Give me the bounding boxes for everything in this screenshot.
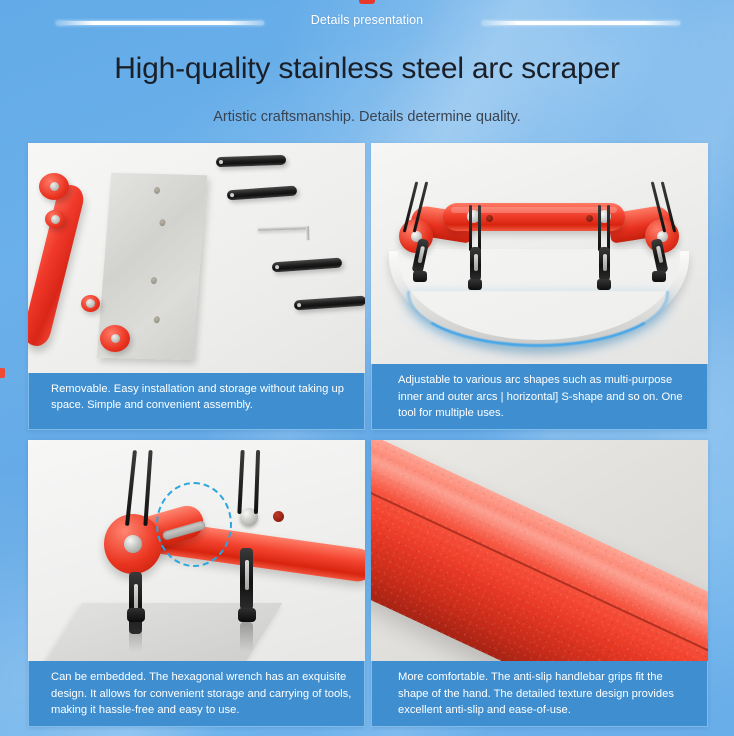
dot-left-icon (486, 215, 493, 222)
foot-inner-right (597, 279, 611, 290)
blade-arm-4 (294, 296, 365, 311)
leg-right-a (237, 450, 244, 514)
page-header: Details presentation High-quality stainl… (0, 0, 734, 140)
handle-pivot-lower-icon (81, 295, 100, 312)
dot-right-icon (586, 215, 593, 222)
leg-right-b (254, 450, 260, 514)
top-accent-tab-icon (359, 0, 375, 4)
accent-dot-icon (273, 511, 284, 522)
card-caption: Can be embedded. The hexagonal wrench ha… (28, 661, 365, 727)
feature-card-grid: Removable. Easy installation and storage… (28, 143, 708, 727)
arc-shapes-photo (371, 143, 708, 364)
blade-arm-1 (216, 155, 286, 167)
hex-wrench-photo (28, 440, 365, 661)
hex-wrench-illustration (258, 226, 308, 231)
clamp-right (240, 548, 253, 610)
foot-inner-left (468, 279, 482, 290)
card-arc-shapes[interactable]: Adjustable to various arc shapes such as… (371, 143, 708, 430)
blade-arm-2 (227, 186, 298, 201)
card-caption: More comfortable. The anti-slip handleba… (371, 661, 708, 727)
leg-inner-right-a (598, 205, 601, 251)
grip-texture-photo (371, 440, 708, 661)
leg-inner-left-b (478, 205, 481, 251)
leg-inner-left-a (469, 205, 472, 251)
red-handle-illustration (28, 182, 87, 349)
clamp-inner-left (470, 247, 481, 281)
clamp-inner-right (599, 247, 610, 281)
card-hex-wrench[interactable]: Can be embedded. The hexagonal wrench ha… (28, 440, 365, 727)
foot-left (127, 608, 145, 622)
card-parts-layout[interactable]: Removable. Easy installation and storage… (28, 143, 365, 430)
foot-right (238, 608, 256, 622)
leg-inner-right-b (607, 205, 610, 251)
page-title: High-quality stainless steel arc scraper (0, 52, 734, 86)
dashed-highlight-circle-icon (156, 482, 232, 567)
blade-arm-3 (272, 258, 343, 273)
card-caption: Removable. Easy installation and storage… (28, 373, 365, 430)
handle-knob-bottom-icon (100, 325, 130, 352)
card-grip-texture[interactable]: More comfortable. The anti-slip handleba… (371, 440, 708, 727)
left-edge-accent-marker-icon (0, 368, 5, 378)
handle-pivot-icon (45, 210, 65, 228)
reflection-right (240, 622, 253, 652)
page-subtitle: Artistic craftsmanship. Details determin… (0, 109, 734, 125)
foot-outer-left (413, 271, 427, 282)
foot-outer-right (652, 271, 666, 282)
main-pivot-hub-icon (104, 514, 162, 574)
eyebrow-label: Details presentation (0, 13, 734, 27)
handle-knob-top-icon (39, 173, 69, 200)
parts-layout-photo (28, 143, 365, 373)
reflection-left (129, 622, 142, 652)
blue-arc-glow-icon (407, 291, 669, 347)
card-caption: Adjustable to various arc shapes such as… (371, 364, 708, 430)
